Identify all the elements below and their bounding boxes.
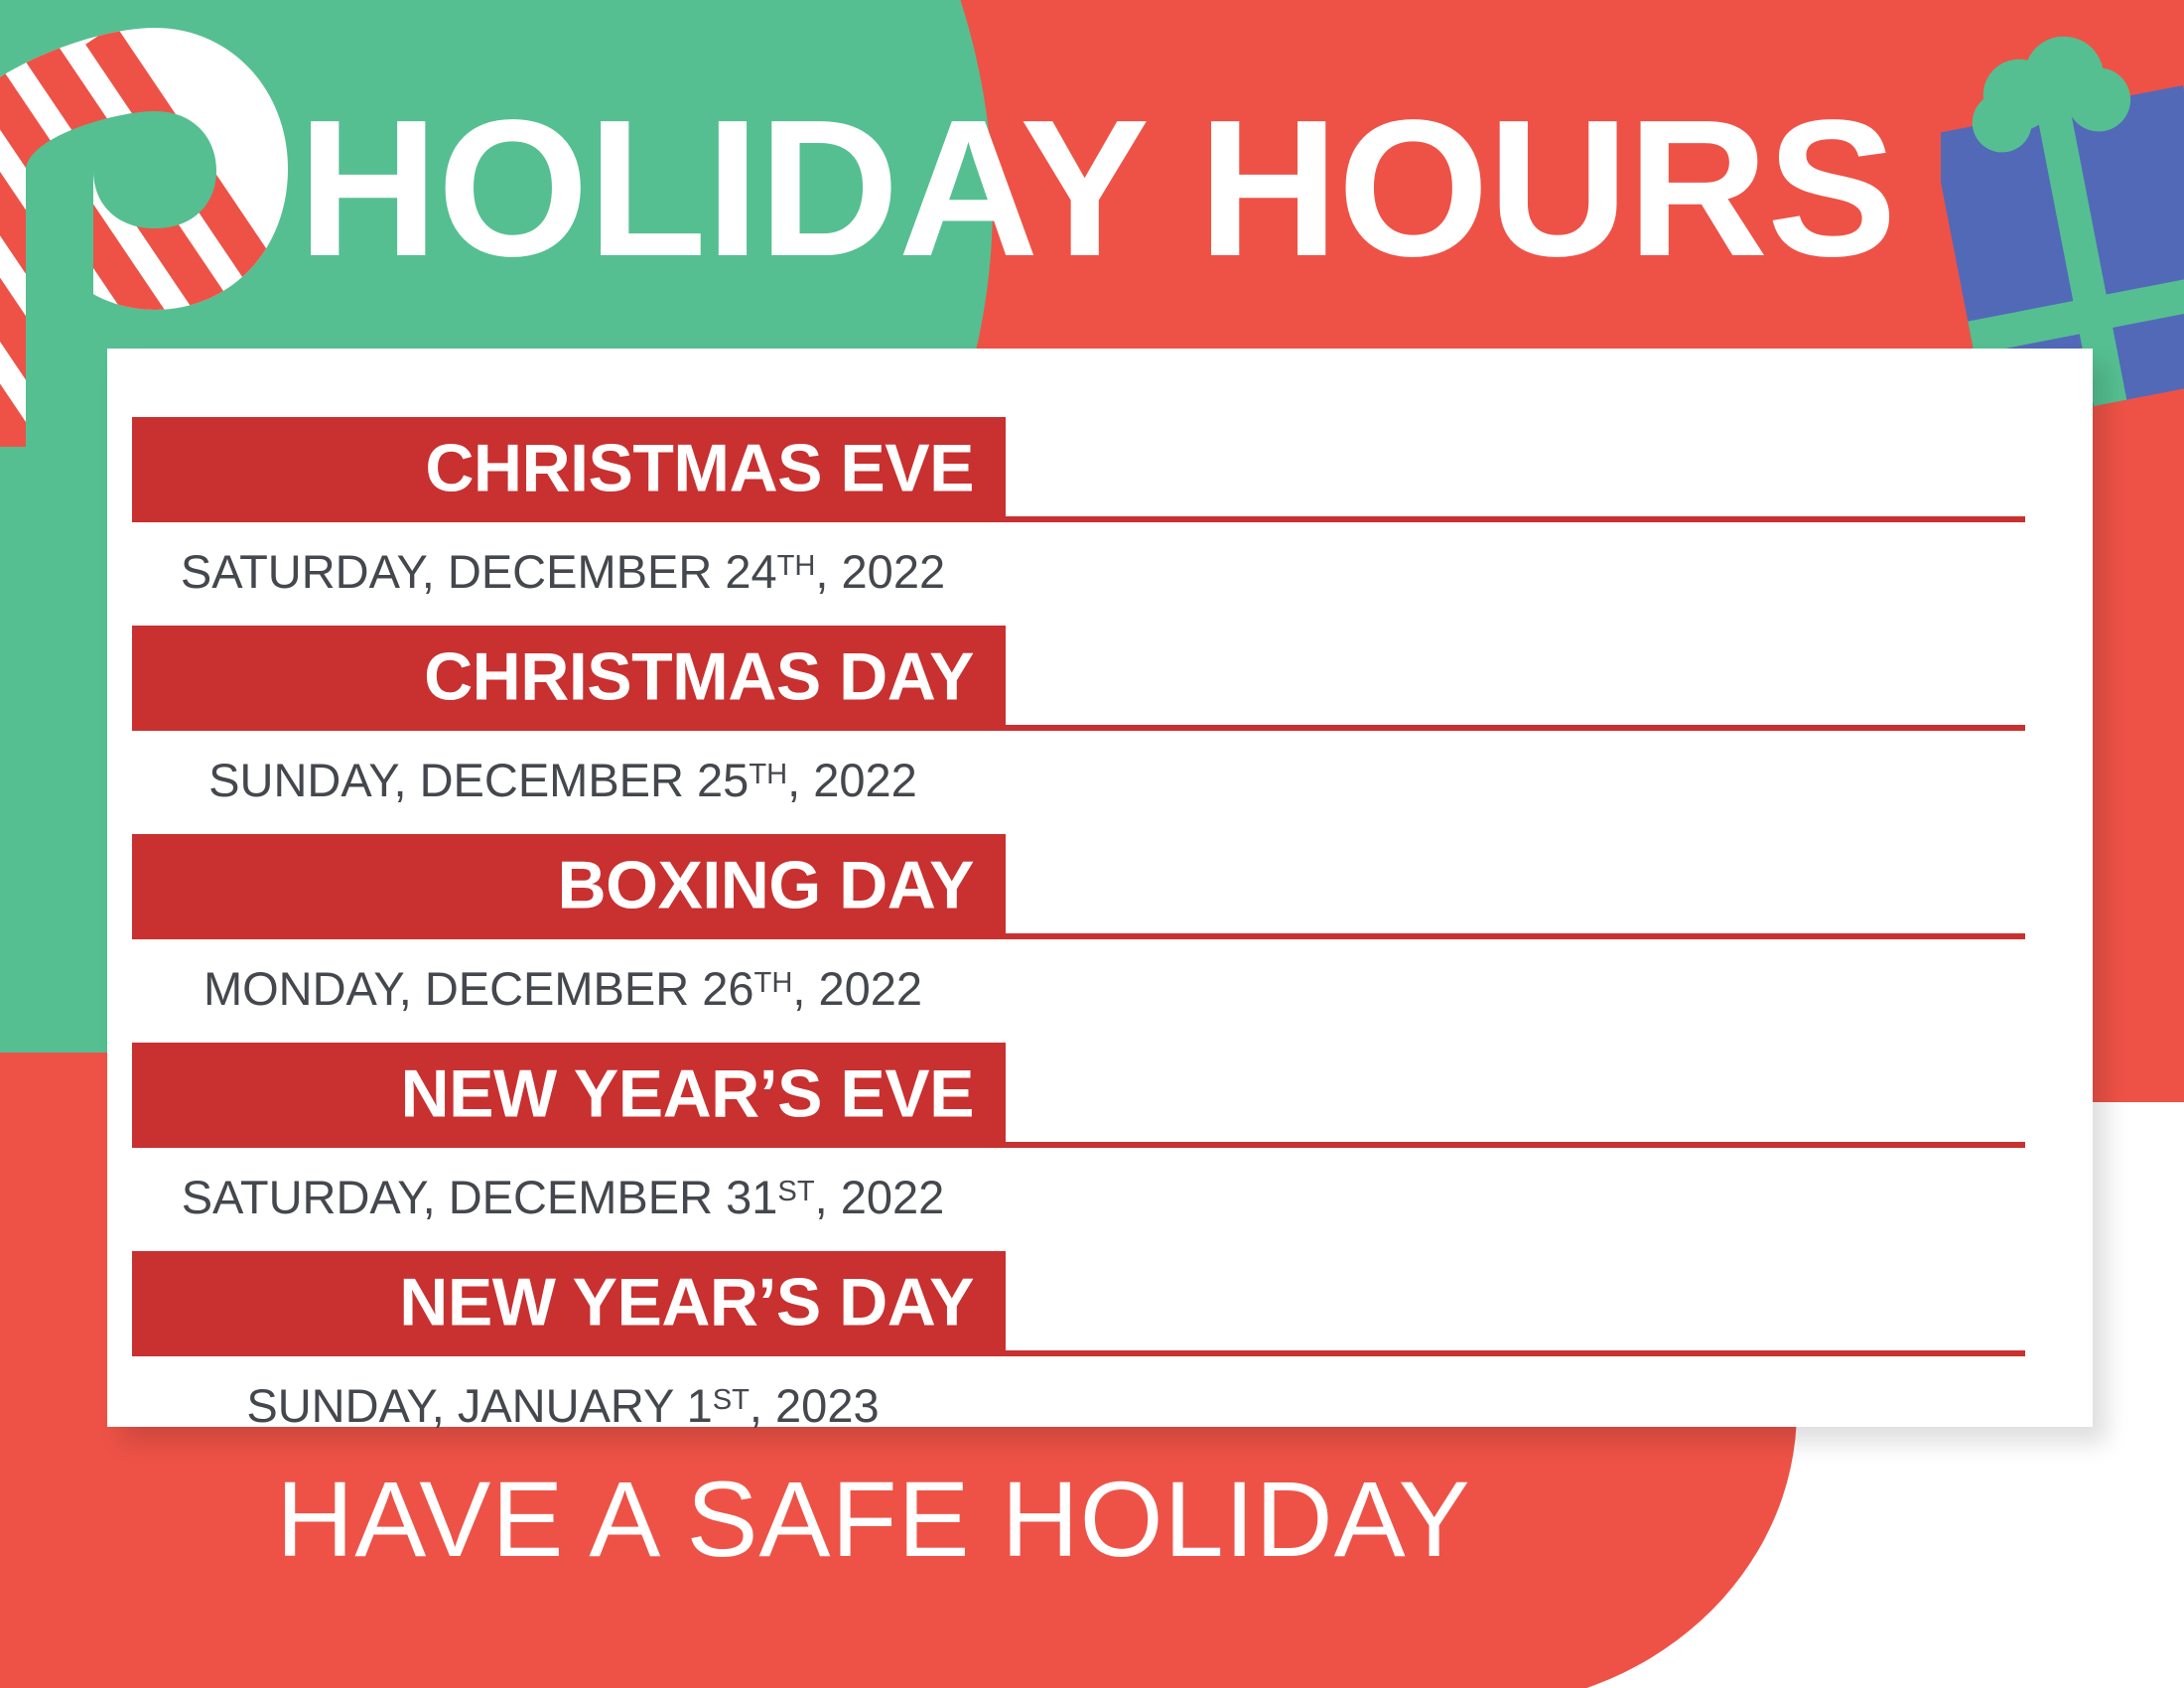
date-ordinal: TH <box>754 967 793 999</box>
hours-underline <box>1006 933 2025 939</box>
date-tail: , 2022 <box>792 962 922 1015</box>
hours-underline <box>1006 1142 2025 1148</box>
table-row: CHRISTMAS EVE SATURDAY, DECEMBER 24TH, 2… <box>107 403 2093 612</box>
hours-underline <box>1006 1350 2025 1356</box>
table-row: BOXING DAY MONDAY, DECEMBER 26TH, 2022 <box>107 820 2093 1029</box>
date-prefix: SUNDAY, DECEMBER 25 <box>208 754 749 806</box>
date-prefix: SATURDAY, DECEMBER 24 <box>181 545 777 598</box>
date-ordinal: TH <box>749 759 787 790</box>
holiday-name-bar: NEW YEAR’S DAY <box>132 1251 1006 1356</box>
holiday-date-label: SUNDAY, DECEMBER 25TH, 2022 <box>107 747 1019 808</box>
date-prefix: SATURDAY, DECEMBER 31 <box>182 1171 778 1223</box>
date-prefix: SUNDAY, JANUARY 1 <box>246 1379 712 1432</box>
holiday-name-bar: CHRISTMAS EVE <box>132 417 1006 522</box>
holiday-name-label: CHRISTMAS EVE <box>132 433 974 504</box>
date-ordinal: TH <box>777 550 816 582</box>
date-tail: , 2022 <box>815 1171 945 1223</box>
page-title: HOLIDAY HOURS <box>298 94 1966 283</box>
holiday-name-bar: CHRISTMAS DAY <box>132 626 1006 731</box>
holiday-name-bar: NEW YEAR’S EVE <box>132 1043 1006 1148</box>
holiday-name-label: NEW YEAR’S EVE <box>132 1058 974 1130</box>
table-row: NEW YEAR’S EVE SATURDAY, DECEMBER 31ST, … <box>107 1029 2093 1237</box>
holiday-name-label: CHRISTMAS DAY <box>132 641 974 713</box>
date-prefix: MONDAY, DECEMBER 26 <box>204 962 754 1015</box>
holiday-name-label: BOXING DAY <box>132 850 974 921</box>
holiday-date-label: SATURDAY, DECEMBER 24TH, 2022 <box>107 538 1019 600</box>
date-ordinal: ST <box>777 1176 814 1207</box>
holiday-name-bar: BOXING DAY <box>132 834 1006 939</box>
hours-underline <box>1006 516 2025 522</box>
hours-card: CHRISTMAS EVE SATURDAY, DECEMBER 24TH, 2… <box>107 349 2093 1427</box>
table-row: CHRISTMAS DAY SUNDAY, DECEMBER 25TH, 202… <box>107 612 2093 820</box>
holiday-date-label: MONDAY, DECEMBER 26TH, 2022 <box>107 955 1019 1017</box>
holiday-hours-poster: HOLIDAY HOURS CHRISTMAS EVE SATURDAY, DE… <box>0 0 2184 1688</box>
table-row: NEW YEAR’S DAY SUNDAY, JANUARY 1ST, 2023 <box>107 1237 2093 1446</box>
footer-tagline: HAVE A SAFE HOLIDAY <box>0 1460 1747 1579</box>
date-tail: , 2022 <box>787 754 917 806</box>
holiday-date-label: SUNDAY, JANUARY 1ST, 2023 <box>107 1372 1019 1434</box>
date-ordinal: ST <box>713 1384 750 1416</box>
holiday-name-label: NEW YEAR’S DAY <box>132 1267 974 1338</box>
holiday-date-label: SATURDAY, DECEMBER 31ST, 2022 <box>107 1164 1019 1225</box>
hours-underline <box>1006 725 2025 731</box>
date-tail: , 2022 <box>815 545 945 598</box>
date-tail: , 2023 <box>750 1379 880 1432</box>
